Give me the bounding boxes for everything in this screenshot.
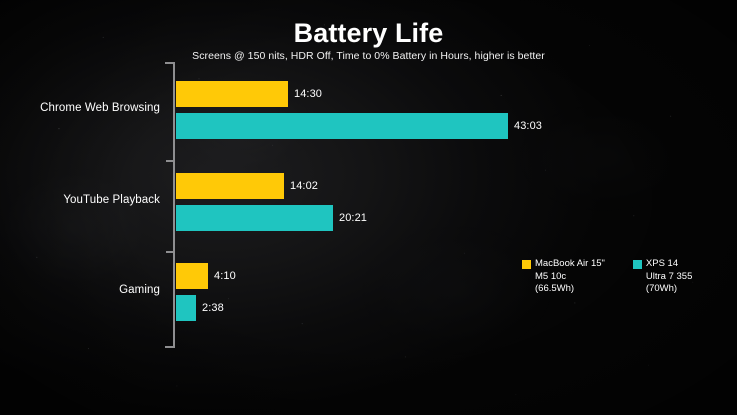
bar-macbook-air <box>176 81 288 107</box>
legend-series-sublabel: M5 10c <box>535 271 605 284</box>
chart-legend: MacBook Air 15" M5 10c (66.5Wh) XPS 14 U… <box>522 258 692 296</box>
bar-value-label: 20:21 <box>339 205 367 231</box>
legend-label-macbook-air: MacBook Air 15" M5 10c (66.5Wh) <box>535 258 605 296</box>
plot-area: 14:3043:0314:0220:214:102:38 Chrome Web … <box>0 0 737 415</box>
legend-series-capacity: (66.5Wh) <box>535 283 605 296</box>
legend-swatch-yellow-icon <box>522 260 531 269</box>
category-label: Chrome Web Browsing <box>12 102 160 114</box>
chart-subtitle: Screens @ 150 nits, HDR Off, Time to 0% … <box>0 50 737 62</box>
axis-tick <box>166 251 174 253</box>
legend-item-xps-14[interactable]: XPS 14 Ultra 7 355 (70Wh) <box>633 258 692 296</box>
bar-value-label: 14:30 <box>294 81 322 107</box>
legend-item-macbook-air[interactable]: MacBook Air 15" M5 10c (66.5Wh) <box>522 258 605 296</box>
y-axis-line <box>173 62 175 348</box>
legend-series-capacity: (70Wh) <box>646 283 692 296</box>
axis-end-cap <box>165 346 174 348</box>
bar-value-label: 14:02 <box>290 173 318 199</box>
bar-xps-14 <box>176 295 196 321</box>
bar-value-label: 43:03 <box>514 113 542 139</box>
bar-macbook-air <box>176 173 284 199</box>
legend-series-name: XPS 14 <box>646 258 692 271</box>
legend-swatch-teal-icon <box>633 260 642 269</box>
legend-label-xps-14: XPS 14 Ultra 7 355 (70Wh) <box>646 258 692 296</box>
bar-xps-14 <box>176 205 333 231</box>
bar-xps-14 <box>176 113 508 139</box>
legend-series-name: MacBook Air 15" <box>535 258 605 271</box>
chart-canvas: Battery Life Screens @ 150 nits, HDR Off… <box>0 0 737 415</box>
axis-end-cap <box>165 62 174 64</box>
bar-value-label: 2:38 <box>202 295 224 321</box>
chart-title: Battery Life <box>0 18 737 49</box>
bar-macbook-air <box>176 263 208 289</box>
axis-tick <box>166 160 174 162</box>
category-label: Gaming <box>12 284 160 296</box>
bar-value-label: 4:10 <box>214 263 236 289</box>
legend-series-sublabel: Ultra 7 355 <box>646 271 692 284</box>
category-label: YouTube Playback <box>12 194 160 206</box>
